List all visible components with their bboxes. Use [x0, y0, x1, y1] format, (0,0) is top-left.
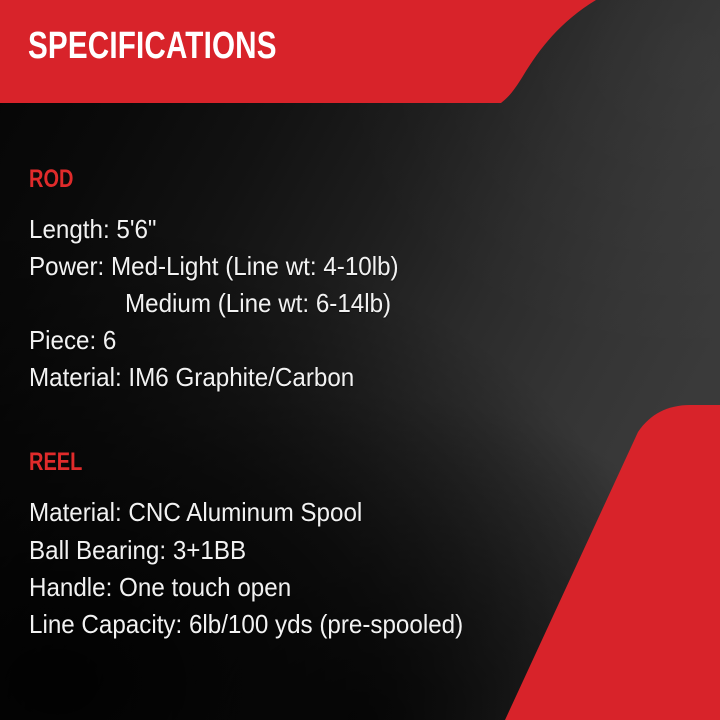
section-heading-reel: REEL	[29, 450, 82, 475]
specifications-card: SPECIFICATIONS ROD Length: 5'6" Power: M…	[0, 0, 720, 720]
spec-line-reel-material: Material: CNC Aluminum Spool	[29, 499, 362, 525]
spec-line-rod-power: Power: Med-Light (Line wt: 4-10lb)	[29, 253, 399, 279]
spec-line-reel-line-capacity: Line Capacity: 6lb/100 yds (pre-spooled)	[29, 611, 463, 637]
spec-line-reel-handle: Handle: One touch open	[29, 574, 291, 600]
spec-line-rod-material: Material: IM6 Graphite/Carbon	[29, 364, 354, 390]
spec-line-rod-length: Length: 5'6"	[29, 216, 156, 242]
section-heading-rod: ROD	[29, 167, 73, 192]
spec-line-rod-power-medium: Medium (Line wt: 6-14lb)	[125, 290, 391, 316]
spec-content: ROD Length: 5'6" Power: Med-Light (Line …	[0, 0, 720, 720]
spec-line-reel-ball-bearing: Ball Bearing: 3+1BB	[29, 537, 246, 563]
spec-line-rod-piece: Piece: 6	[29, 327, 116, 353]
